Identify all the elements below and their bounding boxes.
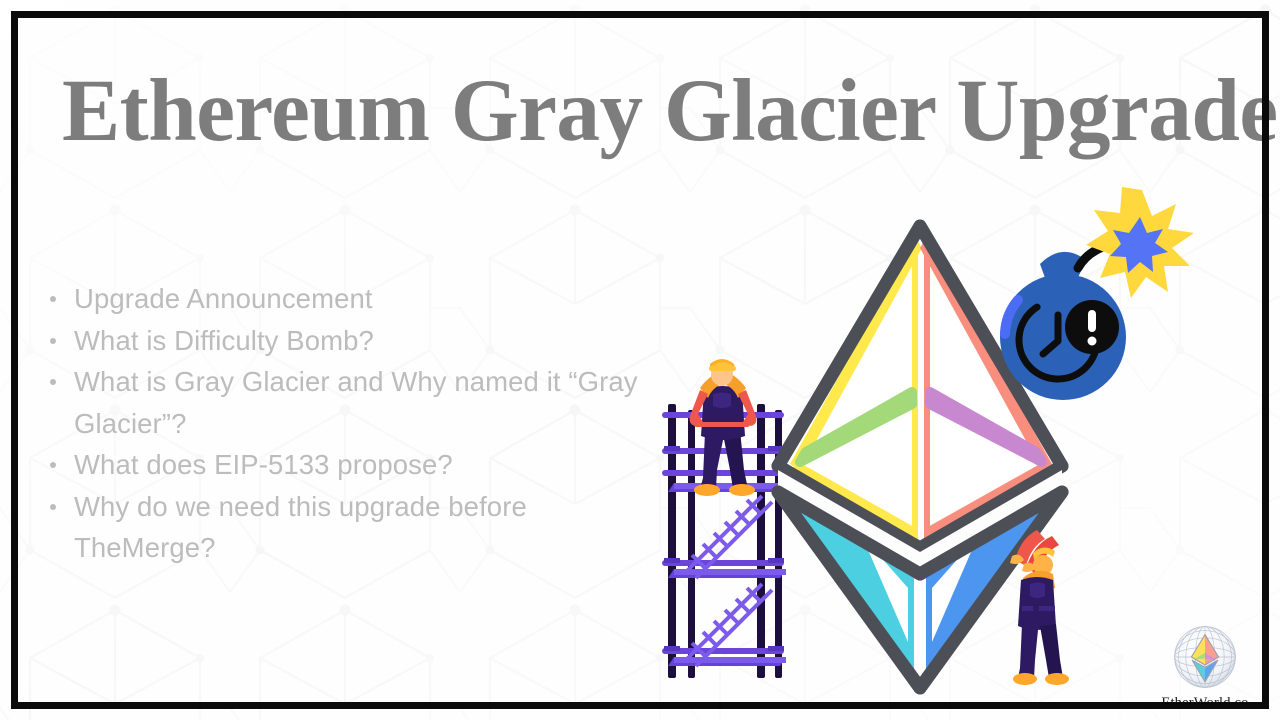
brand-name: EtherWorld.co bbox=[1146, 695, 1264, 712]
spark-icon bbox=[1086, 187, 1194, 298]
scaffolding-icon bbox=[662, 404, 786, 678]
page-title: Ethereum Gray Glacier Upgrade bbox=[62, 63, 1199, 159]
list-item: Why do we need this upgrade before TheMe… bbox=[48, 486, 648, 569]
list-item: What is Difficulty Bomb? bbox=[48, 320, 648, 362]
bomb-clock-icon bbox=[1000, 187, 1194, 400]
agenda-list: Upgrade Announcement What is Difficulty … bbox=[48, 278, 648, 569]
brand-logo: EtherWorld.co bbox=[1146, 617, 1264, 712]
construction-worker-icon bbox=[1010, 530, 1069, 685]
list-item: Upgrade Announcement bbox=[48, 278, 648, 320]
list-item: What does EIP-5133 propose? bbox=[48, 444, 648, 486]
slide-canvas: Ethereum Gray Glacier Upgrade Upgrade An… bbox=[0, 0, 1280, 720]
globe-ethereum-logo-icon bbox=[1165, 617, 1245, 697]
list-item: What is Gray Glacier and Why named it “G… bbox=[48, 361, 648, 444]
construction-worker-icon bbox=[690, 359, 757, 496]
ethereum-diamond-icon bbox=[778, 226, 1062, 688]
